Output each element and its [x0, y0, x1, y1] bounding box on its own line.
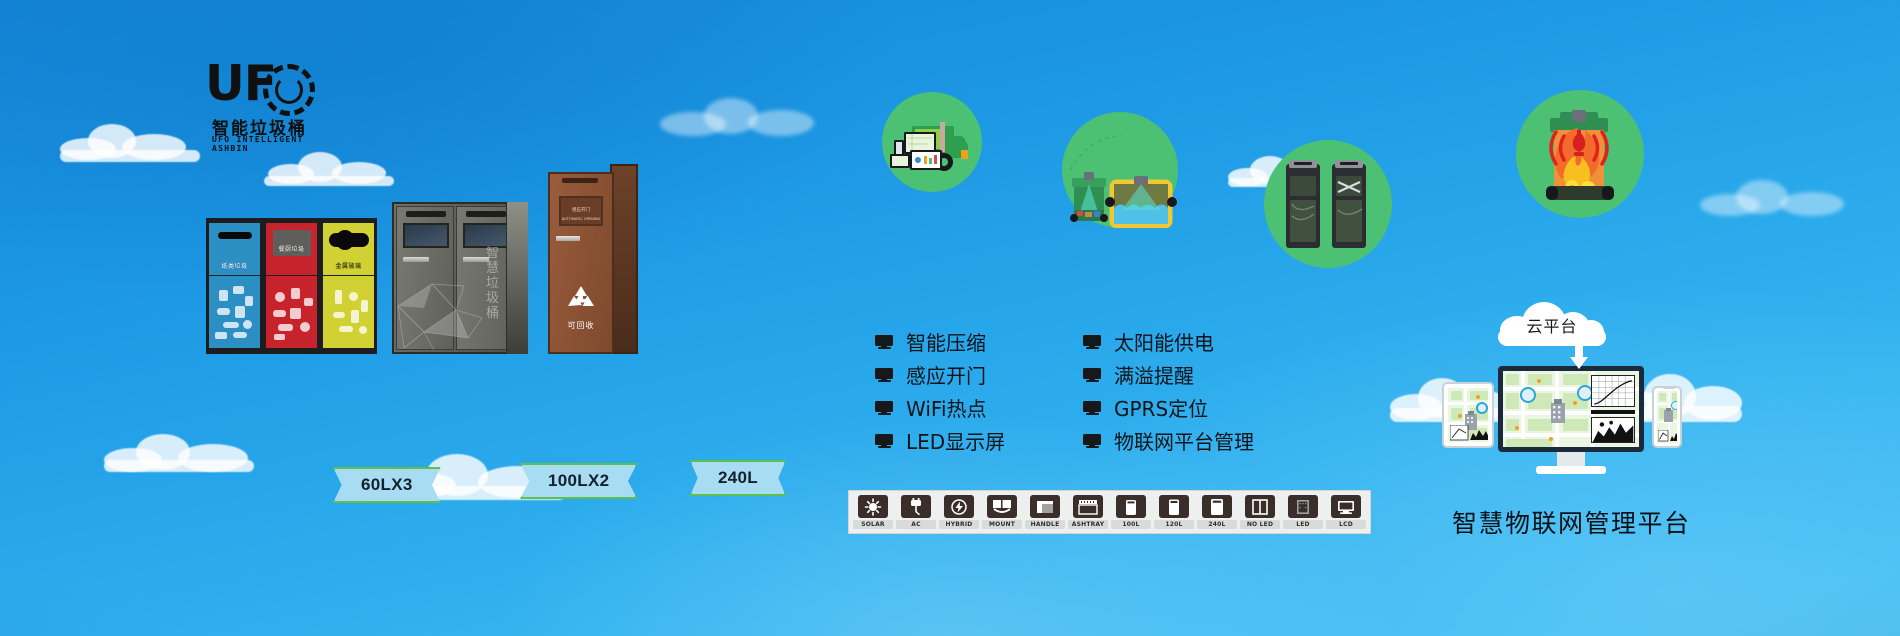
- feature-item: GPRS定位: [1083, 391, 1254, 424]
- bin-side-panel: [610, 164, 638, 354]
- recycle-mark: 可回收: [564, 284, 598, 331]
- bin-panel-metal-glass: 金属玻璃: [320, 218, 377, 354]
- feature-label: 智能压缩: [906, 327, 986, 356]
- polygon-pattern-decor: [394, 266, 484, 352]
- gray-smart-bin: 智慧垃圾桶: [392, 202, 528, 354]
- cloud-decor: [1700, 180, 1850, 216]
- vent-icon: [466, 211, 506, 217]
- line-chart-widget: [1591, 375, 1635, 407]
- recycle-icon: [564, 284, 598, 314]
- bin-100l-icon: [1116, 495, 1146, 518]
- option-lcd[interactable]: LCD: [1326, 495, 1366, 529]
- feature-item: 物联网平台管理: [1083, 424, 1254, 457]
- map-node-marker: [1520, 387, 1536, 403]
- green-icon-twin-bin-compaction: [1264, 140, 1392, 268]
- feature-label: 满溢提醒: [1114, 360, 1194, 389]
- option-label: 120L: [1154, 520, 1194, 529]
- trash-illustration: [209, 276, 260, 348]
- bin-display-screen: [403, 223, 449, 248]
- logo-ring-icon: [263, 64, 315, 116]
- feature-item: 太阳能供电: [1083, 325, 1254, 358]
- green-icon-overflow-detection: [1062, 112, 1178, 228]
- feature-label: WiFi热点: [906, 393, 987, 422]
- option-led[interactable]: LED: [1283, 495, 1323, 529]
- bin-vertical-label: 智慧垃圾桶: [486, 246, 502, 321]
- option-label: ASHTRAY: [1068, 520, 1108, 529]
- capacity-banner-100l: 100LX2: [520, 463, 637, 499]
- feature-label: 物联网平台管理: [1114, 426, 1254, 455]
- option-label: AC: [896, 520, 936, 529]
- green-icon-fire-alarm: [1516, 90, 1644, 218]
- monitor-icon: [875, 335, 893, 349]
- lcd-icon: [1331, 495, 1361, 518]
- monitor-icon: [875, 368, 893, 382]
- option-label: HANDLE: [1025, 520, 1065, 529]
- option-handle[interactable]: HANDLE: [1025, 495, 1065, 529]
- cloud-decor: [104, 432, 254, 472]
- monitor-icon: [1083, 335, 1101, 349]
- bin-info-panel: 感应开门 AUTOMATIC OPENING: [559, 196, 603, 226]
- bin-fire-alarm-icon: [1516, 90, 1644, 218]
- feature-column-right: 太阳能供电 满溢提醒 GPRS定位 物联网平台管理: [1083, 325, 1254, 457]
- card-reader-icon: [556, 236, 580, 241]
- trash-illustration: [323, 276, 374, 348]
- brown-recycling-bin: 感应开门 AUTOMATIC OPENING 可回收: [548, 172, 638, 354]
- panel-text-line2: AUTOMATIC OPENING: [561, 216, 601, 222]
- capacity-label: 240L: [718, 468, 758, 488]
- monitor-icon: [1083, 368, 1101, 382]
- hybrid-bolt-icon: [944, 495, 974, 518]
- feature-label: LED显示屏: [906, 426, 1005, 455]
- capacity-label: 100LX2: [548, 471, 609, 491]
- mount-icon: [987, 495, 1017, 518]
- bin-panel-label: 金属玻璃: [335, 261, 361, 270]
- capacity-banner-60l: 60LX3: [333, 467, 441, 503]
- option-label: NO LED: [1240, 520, 1280, 529]
- recycle-label: 可回收: [564, 320, 598, 331]
- feature-item: 感应开门: [875, 358, 1005, 391]
- monitor-icon: [875, 401, 893, 415]
- area-chart-widget: [1591, 417, 1635, 443]
- monitor-base: [1536, 466, 1606, 474]
- iot-dashboard-illustration: [1420, 350, 1710, 485]
- tablet-map-view: [1448, 388, 1488, 442]
- building-icon: [1662, 407, 1675, 423]
- feature-label: 感应开门: [906, 360, 986, 389]
- capacity-label: 60LX3: [361, 475, 413, 495]
- bin-fill-sensor-icon: [1062, 112, 1178, 228]
- option-label: 240L: [1197, 520, 1237, 529]
- bin-side-panel: [506, 202, 528, 354]
- led-icon: [1288, 495, 1318, 518]
- dashboard-map-view: [1503, 371, 1639, 447]
- no-led-icon: [1245, 495, 1275, 518]
- option-label: 100L: [1111, 520, 1151, 529]
- option-label: MOUNT: [982, 520, 1022, 529]
- feature-item: 满溢提醒: [1083, 358, 1254, 391]
- option-120l[interactable]: 120L: [1154, 495, 1194, 529]
- vent-icon: [562, 178, 598, 183]
- cloud-platform-label: 云平台: [1498, 313, 1606, 337]
- bin-panel-label: 餐厨垃圾: [278, 244, 304, 253]
- feature-column-left: 智能压缩 感应开门 WiFi热点 LED显示屏: [875, 325, 1005, 457]
- option-label: HYBRID: [939, 520, 979, 529]
- feature-label: 太阳能供电: [1114, 327, 1214, 356]
- ashtray-icon: [1073, 495, 1103, 518]
- bin-panel-label: 纸类垃圾: [221, 261, 247, 270]
- cloud-platform-badge: 云平台: [1498, 300, 1606, 344]
- option-ac[interactable]: AC: [896, 495, 936, 529]
- garbage-truck-icon: [882, 92, 982, 192]
- option-ashtray[interactable]: ASHTRAY: [1068, 495, 1108, 529]
- bin-panel-kitchen: 餐厨垃圾: [263, 218, 320, 354]
- phone-mini-chart: [1658, 430, 1677, 442]
- option-solar[interactable]: SOLAR: [853, 495, 893, 529]
- option-100l[interactable]: 100L: [1111, 495, 1151, 529]
- three-color-recycling-bin: 纸类垃圾 餐厨垃圾: [206, 218, 378, 354]
- logo-english-name: UFO INTELLIGENT ASHBIN: [212, 135, 315, 153]
- vent-icon: [406, 211, 446, 217]
- sun-icon: [858, 495, 888, 518]
- monitor-icon: [875, 434, 893, 448]
- panel-text-line1: 感应开门: [561, 208, 601, 214]
- feature-label: GPRS定位: [1114, 393, 1208, 422]
- trash-illustration: [266, 276, 317, 348]
- platform-title: 智慧物联网管理平台: [1452, 504, 1752, 540]
- capacity-banner-240l: 240L: [690, 460, 786, 496]
- twin-bin-compaction-icon: [1264, 140, 1392, 268]
- bin-240l-icon: [1202, 495, 1232, 518]
- green-icon-collection-truck: [882, 92, 982, 192]
- option-label: LCD: [1326, 520, 1366, 529]
- brand-logo: UF 智能垃圾桶 UFO INTELLIGENT ASHBIN: [205, 58, 315, 150]
- phone-map-view: [1657, 391, 1677, 443]
- feature-item: 智能压缩: [875, 325, 1005, 358]
- tablet-device: [1442, 382, 1494, 448]
- cloud-decor: [264, 150, 394, 184]
- poster-stage: UF 智能垃圾桶 UFO INTELLIGENT ASHBIN 纸类垃圾: [0, 0, 1900, 636]
- option-mount[interactable]: MOUNT: [982, 495, 1022, 529]
- bin-panel-paper: 纸类垃圾: [206, 218, 263, 354]
- tablet-mini-chart: [1450, 425, 1488, 441]
- bin-body: 感应开门 AUTOMATIC OPENING 可回收: [548, 172, 614, 354]
- option-hybrid[interactable]: HYBRID: [939, 495, 979, 529]
- bin-display-screen: [463, 223, 509, 248]
- feature-item: WiFi热点: [875, 391, 1005, 424]
- desktop-monitor: [1498, 366, 1644, 452]
- feature-item: LED显示屏: [875, 424, 1005, 457]
- cloud-decor: [60, 120, 200, 160]
- bin-120l-icon: [1159, 495, 1189, 518]
- option-240l[interactable]: 240L: [1197, 495, 1237, 529]
- card-reader-icon: [403, 257, 429, 262]
- download-arrow-icon: [1568, 344, 1590, 370]
- option-label: LED: [1283, 520, 1323, 529]
- option-icon-strip: SOLAR AC HYBRID MOUNT HANDLE: [848, 490, 1371, 534]
- plug-icon: [901, 495, 931, 518]
- building-icon: [1547, 397, 1569, 425]
- phone-device: [1652, 386, 1682, 448]
- handle-icon: [1030, 495, 1060, 518]
- option-label: SOLAR: [853, 520, 893, 529]
- monitor-icon: [1083, 401, 1101, 415]
- option-no-led[interactable]: NO LED: [1240, 495, 1280, 529]
- monitor-icon: [1083, 434, 1101, 448]
- cloud-decor: [660, 96, 820, 136]
